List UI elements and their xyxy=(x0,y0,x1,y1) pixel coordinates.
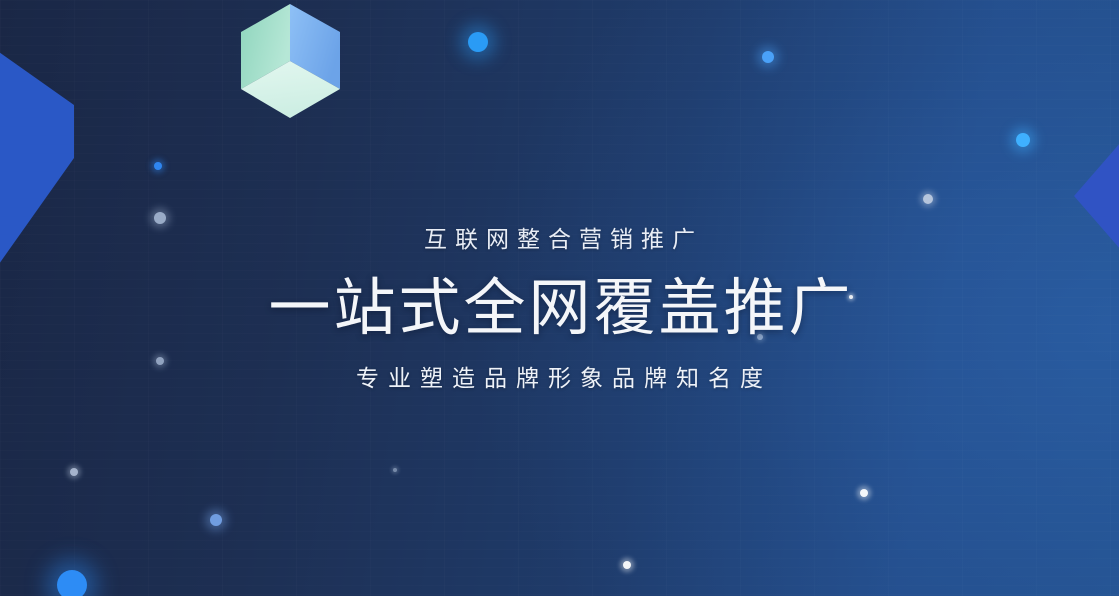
particle-dot xyxy=(154,212,166,224)
tagline-bottom: 专业塑造品牌形象品牌知名度 xyxy=(0,362,1119,394)
particle-dot xyxy=(468,32,488,52)
tagline-top: 互联网整合营销推广 xyxy=(0,224,1119,254)
particle-dot xyxy=(923,194,933,204)
particle-dot xyxy=(762,51,774,63)
particle-dot xyxy=(70,468,78,476)
particle-dot xyxy=(623,561,631,569)
particle-dot xyxy=(57,570,87,596)
hero-text-block: 互联网整合营销推广 一站式全网覆盖推广 专业塑造品牌形象品牌知名度 xyxy=(0,224,1119,394)
particle-dot xyxy=(393,468,397,472)
particle-dot xyxy=(210,514,222,526)
promo-banner: 互联网整合营销推广 一站式全网覆盖推广 专业塑造品牌形象品牌知名度 xyxy=(0,0,1119,596)
page-title: 一站式全网覆盖推广 xyxy=(0,271,1119,347)
particle-dot xyxy=(860,489,868,497)
isometric-cube-logo-icon xyxy=(241,4,340,118)
particle-dot xyxy=(1016,133,1030,147)
particle-dot xyxy=(154,162,162,170)
